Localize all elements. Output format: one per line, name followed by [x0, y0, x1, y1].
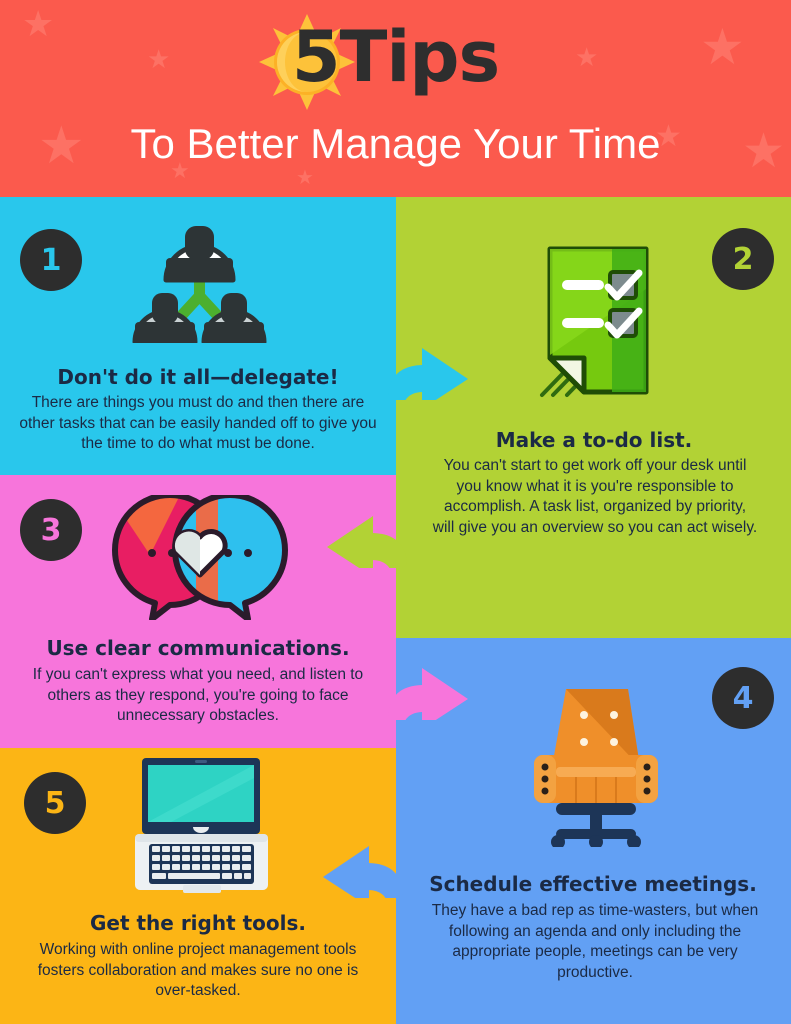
tip-body-1: There are things you must do and then th…: [12, 393, 384, 455]
tip-body-3: If you can't express what you need, and …: [26, 665, 370, 727]
checklist-icon: [536, 243, 654, 398]
arrow-2-to-3: [322, 508, 407, 568]
star-icon: ★: [296, 168, 314, 188]
delegate-people-icon: [122, 218, 277, 343]
arrow-4-to-5: [318, 838, 403, 898]
title-number: 5: [292, 16, 340, 98]
header-banner: ★ ★ ★ ★ ★ ★ ★ ★ ★: [0, 0, 791, 197]
tip-number-4: 4: [733, 681, 754, 716]
tip-title-3: Use clear communications.: [8, 637, 388, 660]
tip-number-1: 1: [41, 243, 62, 278]
tip-title-5: Get the right tools.: [8, 912, 388, 935]
arrow-1-to-2: [388, 340, 473, 400]
tip-number-badge-1: 1: [20, 229, 82, 291]
arrow-3-to-4: [388, 660, 473, 720]
tip-title-1: Don't do it all—delegate!: [8, 366, 388, 389]
tip-number-badge-3: 3: [20, 499, 82, 561]
title-word: Tips: [340, 16, 500, 98]
infographic-root: ★ ★ ★ ★ ★ ★ ★ ★ ★: [0, 0, 791, 1024]
tip-body-5: Working with online project management t…: [18, 940, 378, 1002]
tip-body-2: You can't start to get work off your des…: [432, 456, 758, 538]
tip-number-5: 5: [45, 786, 66, 821]
page-title: 5Tips: [0, 22, 791, 92]
laptop-icon: [135, 758, 268, 896]
tip-number-badge-5: 5: [24, 772, 86, 834]
page-subtitle: To Better Manage Your Time: [0, 122, 791, 166]
tip-title-2: Make a to-do list.: [405, 429, 783, 452]
office-chair-icon: [526, 667, 666, 847]
tip-number-badge-2: 2: [712, 228, 774, 290]
speech-bubbles-heart-icon: [110, 495, 290, 620]
tip-title-4: Schedule effective meetings.: [400, 873, 786, 896]
tip-number-2: 2: [733, 242, 754, 277]
tip-body-4: They have a bad rep as time-wasters, but…: [425, 901, 765, 983]
tip-number-3: 3: [41, 513, 62, 548]
tip-number-badge-4: 4: [712, 667, 774, 729]
